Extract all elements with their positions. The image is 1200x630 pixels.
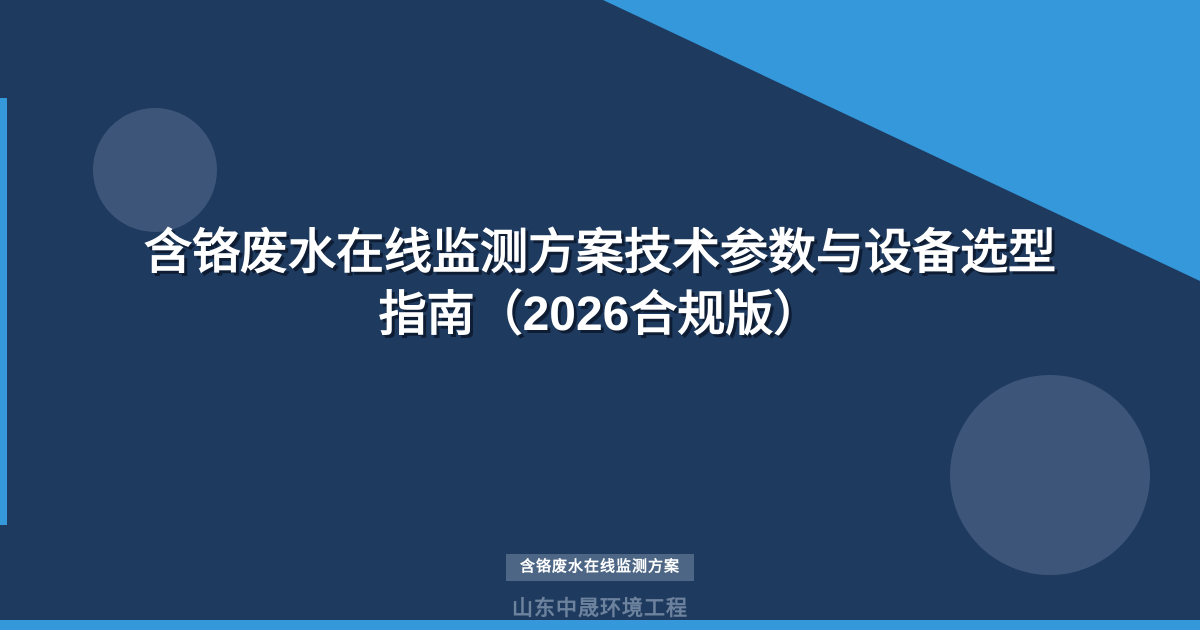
page-title: 含铬废水在线监测方案技术参数与设备选型 指南（2026合规版） (0, 222, 1200, 346)
watermark-secondary: 山东中晟环境工程 (0, 592, 1200, 622)
watermark-primary-label: 含铬废水在线监测方案 (506, 554, 694, 581)
title-card-slide: 含铬废水在线监测方案技术参数与设备选型 指南（2026合规版） 含铬废水在线监测… (0, 0, 1200, 630)
decorative-circle-top-left (93, 108, 217, 232)
decorative-circle-bottom-right (950, 375, 1150, 575)
title-line-2: 指南（2026合规版） (60, 284, 1140, 346)
watermark-primary: 含铬废水在线监测方案 (0, 554, 1200, 581)
title-line-1: 含铬废水在线监测方案技术参数与设备选型 (60, 222, 1140, 284)
